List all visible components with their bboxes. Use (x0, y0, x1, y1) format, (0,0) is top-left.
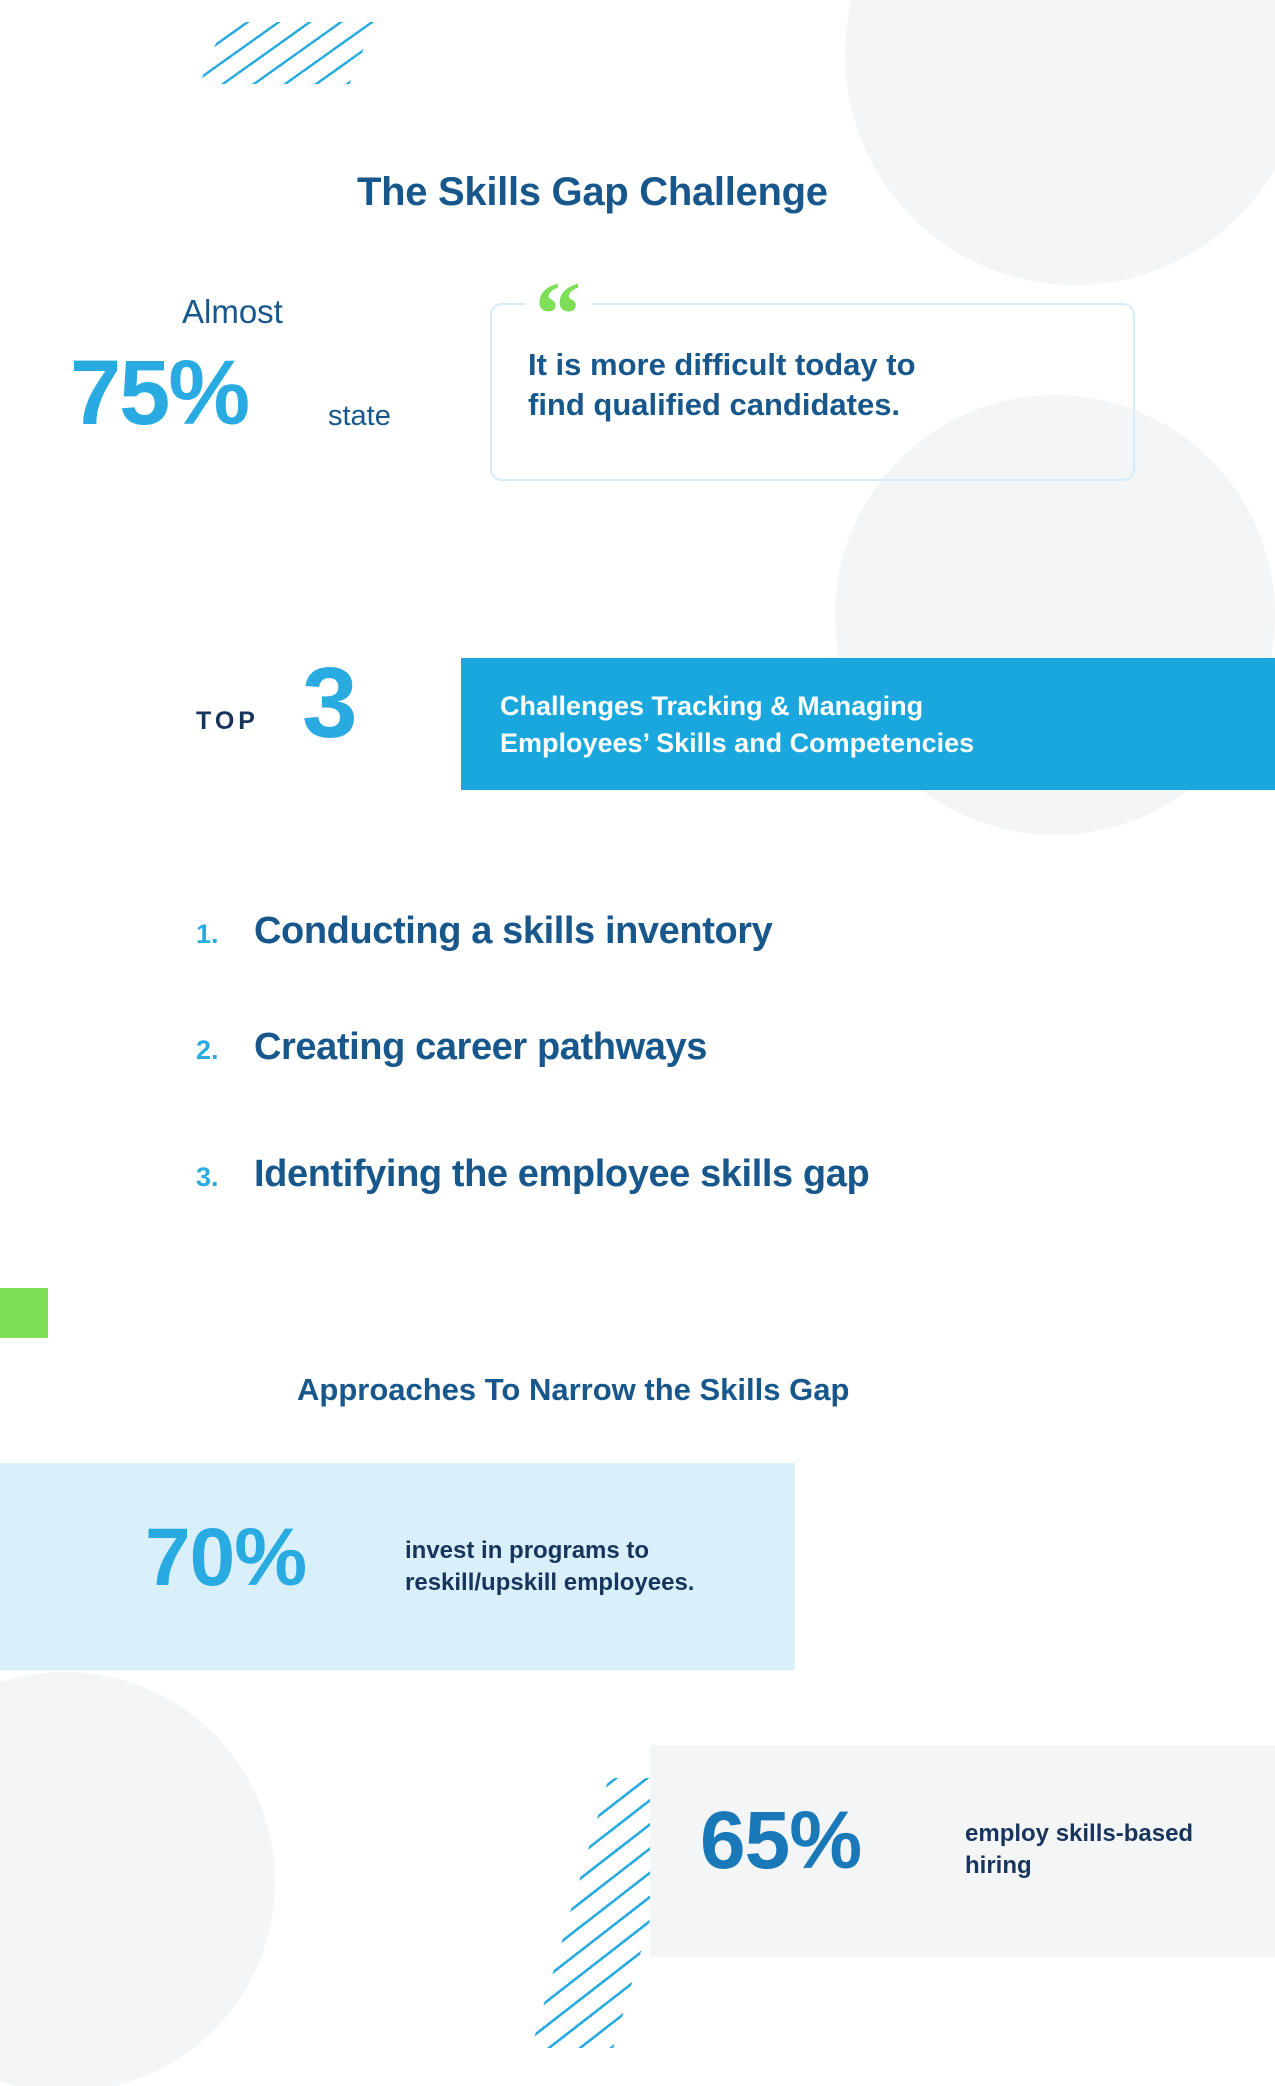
stat-65-description: employ skills-basedhiring (965, 1818, 1265, 1883)
quote-line-2-prefix: find (528, 387, 593, 422)
list-item-number: 1. (196, 919, 254, 950)
list-item: 2. Creating career pathways (196, 1026, 707, 1069)
quote-text: It is more difficult today tofind qualif… (528, 345, 1118, 424)
banner-line-1: Challenges Tracking & Managing (500, 691, 923, 721)
decorative-circle-bottom-left (0, 1672, 275, 2086)
list-item-label: Identifying the employee skills gap (254, 1153, 869, 1196)
decorative-circle-top-right (845, 0, 1275, 285)
stat-70-percent: 70% (145, 1517, 306, 1599)
list-item: 3. Identifying the employee skills gap (196, 1153, 869, 1196)
list-item: 1. Conducting a skills inventory (196, 910, 772, 953)
stat-65-desc-line-2: hiring (965, 1852, 1032, 1879)
challenges-banner-text: Challenges Tracking & ManagingEmployees’… (500, 688, 1220, 762)
stat-70-desc-line-2: reskill/upskill employees. (405, 1569, 694, 1596)
banner-line-2: Employees’ Skills and Competencies (500, 728, 974, 758)
infographic-canvas: The Skills Gap Challenge Almost 75% stat… (0, 0, 1275, 2086)
top-label: TOP (196, 707, 259, 736)
page-title: The Skills Gap Challenge (357, 170, 828, 215)
list-item-label: Conducting a skills inventory (254, 910, 772, 953)
top-number: 3 (302, 653, 358, 753)
quote-line-2-emphasis: qualified candidates. (593, 387, 900, 422)
stat-75-percent: 75% (70, 347, 248, 439)
almost-label: Almost (182, 293, 283, 331)
stat-65-percent: 65% (700, 1800, 861, 1882)
list-item-number: 2. (196, 1035, 254, 1066)
state-label: state (328, 400, 391, 433)
green-square-accent (0, 1288, 48, 1338)
diagonal-stripes-icon-top (199, 22, 374, 84)
stat-65-desc-line-1: employ skills-based (965, 1820, 1193, 1847)
quote-line-1: It is more difficult today to (528, 347, 916, 382)
stat-70-description: invest in programs toreskill/upskill emp… (405, 1535, 785, 1600)
approaches-title: Approaches To Narrow the Skills Gap (297, 1372, 849, 1408)
list-item-label: Creating career pathways (254, 1026, 707, 1069)
list-item-number: 3. (196, 1162, 254, 1193)
stat-70-desc-line-1: invest in programs to (405, 1537, 649, 1564)
